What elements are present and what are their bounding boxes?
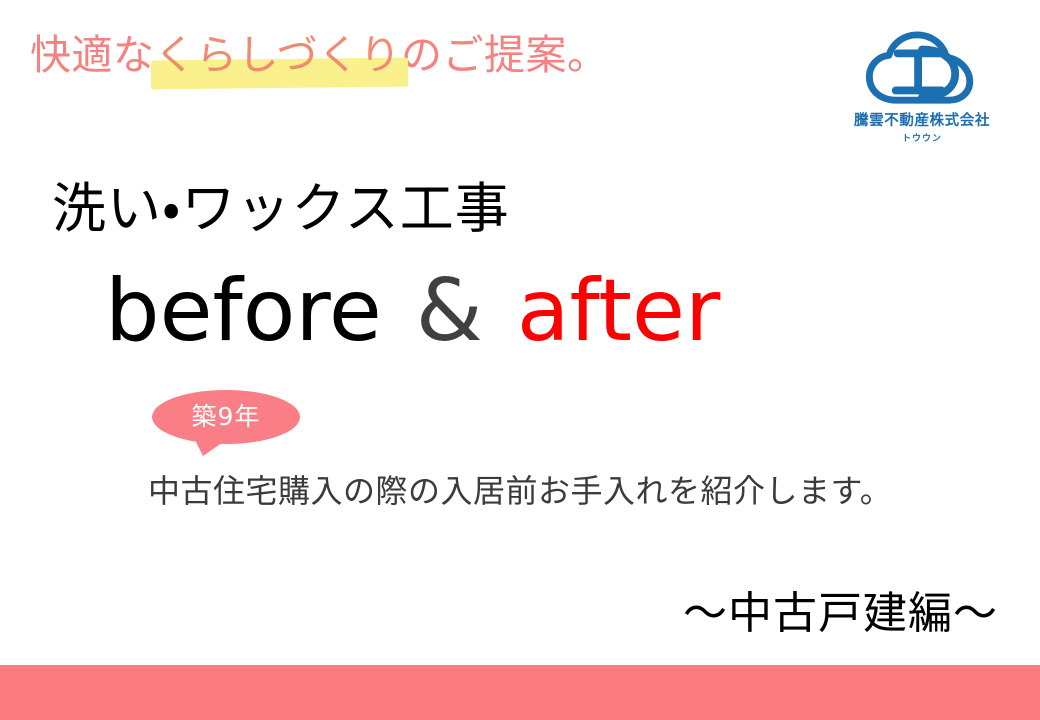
tagline-suffix: のご提案。 — [401, 31, 609, 79]
company-logo: 騰雲不動産株式会社 トウウン — [842, 30, 1002, 144]
footer-color-band — [0, 665, 1040, 720]
tagline-prefix: 快適な — [30, 31, 155, 79]
series-label: 〜中古戸建編〜 — [683, 592, 998, 636]
cloud-logo-icon — [863, 30, 981, 108]
after-label: after — [517, 261, 720, 361]
building-age-badge: 築9年 — [152, 390, 300, 444]
tagline-highlighted-text: くらしづくり — [155, 31, 402, 79]
work-subject-title: 洗い・ワックス工事 — [52, 182, 510, 236]
before-after-heading: before&after — [105, 268, 720, 354]
presentation-slide: 快適なくらしづくりのご提案。 騰雲不動産株式会社 トウウン 洗い・ワックス工事 … — [0, 0, 1040, 720]
before-label: before — [105, 261, 382, 361]
ampersand-separator: & — [382, 261, 517, 361]
header-tagline: 快適なくらしづくりのご提案。 — [30, 33, 609, 79]
company-name: 騰雲不動産株式会社 — [842, 109, 1002, 130]
company-name-furigana: トウウン — [842, 131, 1002, 144]
lead-description: 中古住宅購入の際の入居前お手入れを紹介します。 — [148, 472, 892, 510]
